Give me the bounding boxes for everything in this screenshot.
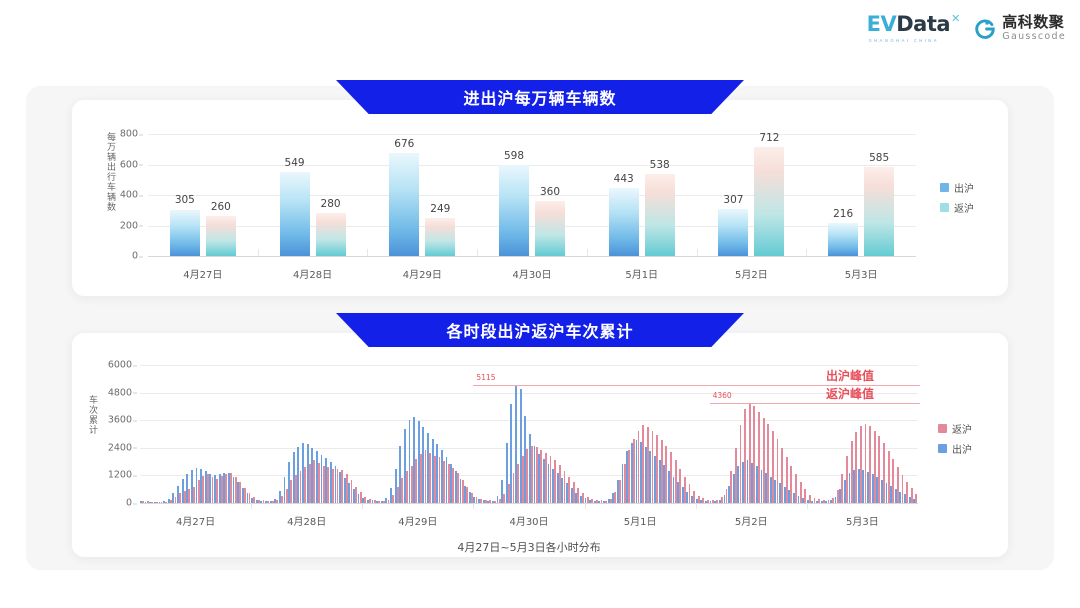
hourly-trips-day-separator <box>473 503 474 509</box>
hourly-trips-x-tick: 4月29日 <box>398 513 437 528</box>
hourly-trips-y-tick: 4800 <box>96 387 132 398</box>
daily-vehicles-bar-out <box>389 153 419 256</box>
daily-vehicles-bar-value: 305 <box>175 194 195 206</box>
daily-vehicles-gridline <box>148 134 916 135</box>
daily-vehicles-x-tick: 4月30日 <box>512 266 551 281</box>
daily-vehicles-x-tick: 4月28日 <box>293 266 332 281</box>
legend-swatch <box>938 444 947 453</box>
gausscode-name-en: Gausscode <box>1002 32 1066 42</box>
hourly-trips-annotation-line <box>710 403 920 404</box>
hourly-trips-x-tick: 5月1日 <box>624 513 657 528</box>
hourly-trips-y-tick: 0 <box>96 498 132 509</box>
daily-vehicles-banner: 进出沪每万辆车辆数 <box>336 80 744 114</box>
hourly-trips-day-separator <box>585 503 586 509</box>
daily-vehicles-bar-value: 360 <box>540 186 560 198</box>
hourly-trips-x-tick: 5月2日 <box>735 513 768 528</box>
daily-vehicles-bar-out <box>280 172 310 256</box>
daily-vehicles-title: 进出沪每万辆车辆数 <box>463 85 616 109</box>
daily-vehicles-plot: 每万辆出行车辆数02004006008003052604月27日5492804月… <box>148 134 916 256</box>
daily-vehicles-category-separator <box>367 249 368 256</box>
hourly-trips-title: 各时段出沪返沪车次累计 <box>446 318 633 342</box>
daily-vehicles-x-tick: 4月27日 <box>183 266 222 281</box>
legend-item[interactable]: 返沪 <box>940 200 974 215</box>
daily-vehicles-bar-value: 307 <box>723 194 743 206</box>
daily-vehicles-bar-back <box>645 174 675 256</box>
legend-label: 出沪 <box>954 180 974 195</box>
daily-vehicles-bar-out <box>609 188 639 256</box>
legend-item[interactable]: 出沪 <box>940 180 974 195</box>
legend-swatch <box>940 183 949 192</box>
hourly-trips-annotation-label: 出沪峰值 <box>826 367 874 384</box>
daily-vehicles-bar-back <box>425 218 455 256</box>
daily-vehicles-bar-out <box>718 209 748 256</box>
daily-vehicles-bar-value: 712 <box>759 132 779 144</box>
hourly-trips-annotation-label: 返沪峰值 <box>826 385 874 402</box>
daily-vehicles-y-tick: 600 <box>104 159 138 170</box>
gausscode-mark-icon <box>974 18 996 40</box>
daily-vehicles-bar-value: 676 <box>394 138 414 150</box>
evdata-wordmark: EVData <box>867 14 950 35</box>
daily-vehicles-gridline <box>148 256 916 257</box>
daily-vehicles-bar-back <box>535 201 565 256</box>
legend-item[interactable]: 出沪 <box>938 441 972 456</box>
hourly-trips-day-separator <box>362 503 363 509</box>
legend-swatch <box>938 424 947 433</box>
brand-bar: EVData ✕ SHANGHAI CHINA 高科数聚 Gausscode <box>867 14 1066 43</box>
hourly-trips-plot: 车次累计0120024003600480060004月27日4月28日4月29日… <box>140 365 918 503</box>
evdata-wordmark-ev: EV <box>867 12 897 36</box>
hourly-trips-y-tick: 1200 <box>96 470 132 481</box>
legend-swatch <box>940 203 949 212</box>
hourly-trips-day-separator <box>251 503 252 509</box>
daily-vehicles-y-tick: 800 <box>104 129 138 140</box>
legend-item[interactable]: 返沪 <box>938 421 972 436</box>
evdata-x-icon: ✕ <box>951 12 960 25</box>
legend-label: 出沪 <box>952 441 972 456</box>
daily-vehicles-y-tick: 400 <box>104 190 138 201</box>
daily-vehicles-bar-back <box>316 213 346 256</box>
hourly-trips-x-tick: 4月28日 <box>287 513 326 528</box>
evdata-tagline: SHANGHAI CHINA <box>869 38 939 43</box>
daily-vehicles-category-separator <box>587 249 588 256</box>
daily-vehicles-bar-out <box>499 165 529 256</box>
hourly-trips-y-tick: 2400 <box>96 442 132 453</box>
hourly-trips-x-tick: 4月30日 <box>509 513 548 528</box>
legend-label: 返沪 <box>952 421 972 436</box>
hourly-trips-y-tick: 3600 <box>96 415 132 426</box>
hourly-trips-x-axis-label: 4月27日~5月3日各小时分布 <box>457 539 600 555</box>
daily-vehicles-bar-back <box>206 216 236 256</box>
evdata-logo: EVData ✕ SHANGHAI CHINA <box>867 14 961 43</box>
dashboard-page: EVData ✕ SHANGHAI CHINA 高科数聚 Gausscode 进… <box>0 0 1080 608</box>
hourly-trips-y-tick: 6000 <box>96 360 132 371</box>
daily-vehicles-gridline <box>148 165 916 166</box>
daily-vehicles-gridline <box>148 195 916 196</box>
hourly-trips-banner: 各时段出沪返沪车次累计 <box>336 313 744 347</box>
hourly-trips-bar-back <box>915 494 917 503</box>
daily-vehicles-bar-value: 249 <box>430 203 450 215</box>
daily-vehicles-x-tick: 4月29日 <box>403 266 442 281</box>
daily-vehicles-bar-value: 280 <box>321 198 341 210</box>
daily-vehicles-bar-value: 598 <box>504 150 524 162</box>
evdata-wordmark-data: Data <box>896 12 950 36</box>
daily-vehicles-bar-value: 549 <box>285 157 305 169</box>
daily-vehicles-x-tick: 5月2日 <box>735 266 768 281</box>
daily-vehicles-gridline <box>148 226 916 227</box>
hourly-trips-day-separator <box>696 503 697 509</box>
hourly-trips-annotation-value: 5115 <box>476 373 495 382</box>
hourly-trips-legend[interactable]: 返沪出沪 <box>938 421 972 456</box>
hourly-trips-gridline <box>140 503 918 504</box>
daily-vehicles-bar-value: 260 <box>211 201 231 213</box>
daily-vehicles-bar-value: 538 <box>650 159 670 171</box>
daily-vehicles-x-tick: 5月1日 <box>625 266 658 281</box>
daily-vehicles-bar-back <box>864 167 894 256</box>
daily-vehicles-category-separator <box>477 249 478 256</box>
legend-label: 返沪 <box>954 200 974 215</box>
gausscode-logo: 高科数聚 Gausscode <box>974 15 1066 42</box>
daily-vehicles-category-separator <box>697 249 698 256</box>
hourly-trips-day-separator <box>807 503 808 509</box>
gausscode-name-cn: 高科数聚 <box>1002 15 1066 30</box>
daily-vehicles-y-tick: 0 <box>104 251 138 262</box>
daily-vehicles-bar-out <box>828 223 858 256</box>
daily-vehicles-x-tick: 5月3日 <box>845 266 878 281</box>
daily-vehicles-bar-out <box>170 210 200 257</box>
daily-vehicles-category-separator <box>806 249 807 256</box>
daily-vehicles-bar-value: 216 <box>833 208 853 220</box>
hourly-trips-annotation-value: 4360 <box>713 391 732 400</box>
daily-vehicles-category-separator <box>258 249 259 256</box>
hourly-trips-x-tick: 4月27日 <box>176 513 215 528</box>
daily-vehicles-bar-back <box>754 147 784 256</box>
hourly-trips-gridline <box>140 365 918 366</box>
daily-vehicles-legend[interactable]: 出沪返沪 <box>940 180 974 215</box>
hourly-trips-x-tick: 5月3日 <box>846 513 879 528</box>
daily-vehicles-bar-value: 585 <box>869 152 889 164</box>
hourly-trips-gridline <box>140 420 918 421</box>
hourly-trips-gridline <box>140 393 918 394</box>
daily-vehicles-y-tick: 200 <box>104 220 138 231</box>
daily-vehicles-bar-value: 443 <box>614 173 634 185</box>
